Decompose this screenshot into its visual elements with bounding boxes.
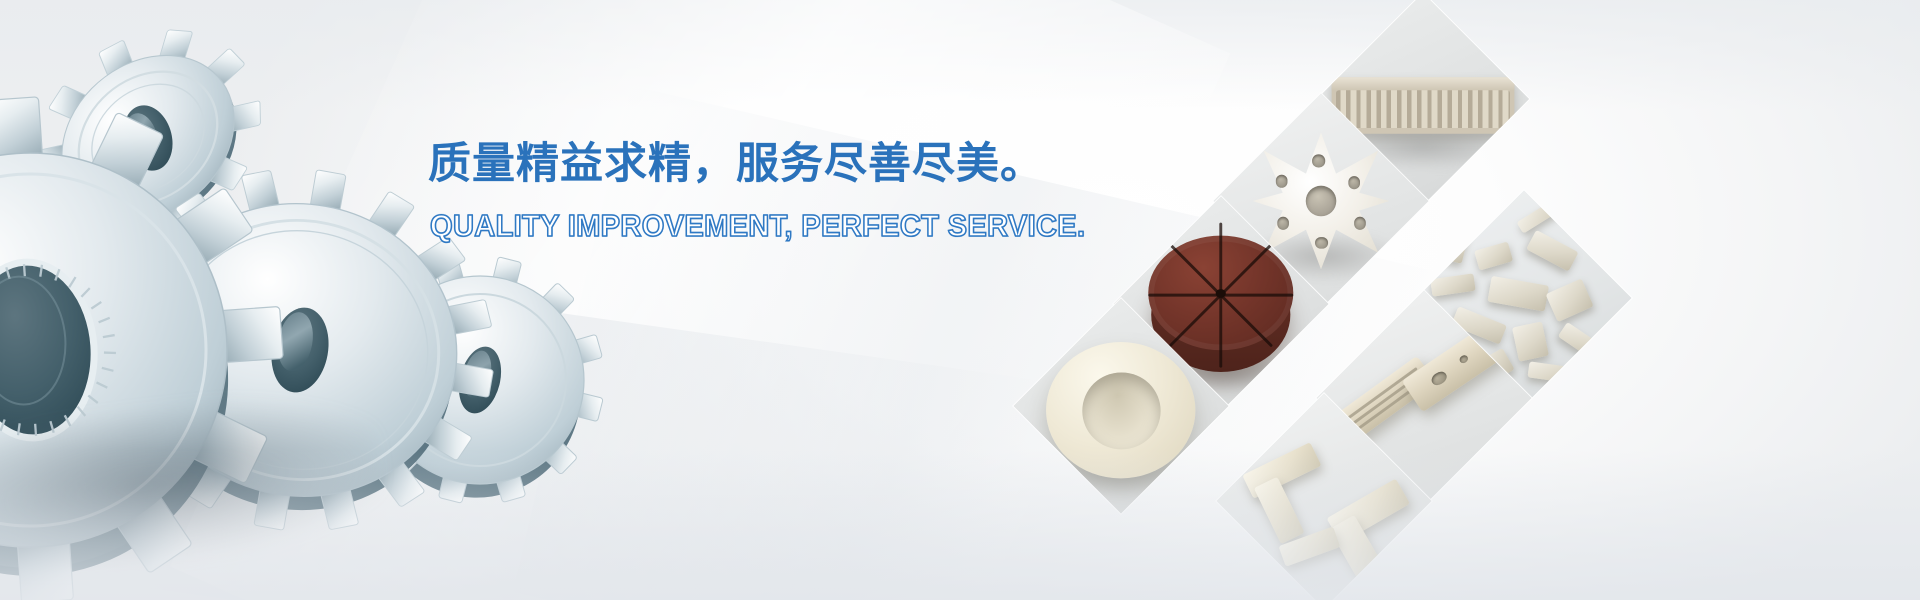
- vent-grille-part: [1332, 77, 1515, 134]
- headline-chinese: 质量精益求精，服务尽善尽美。: [428, 138, 1048, 190]
- headline-english: QUALITY IMPROVEMENT, PERFECT SERVICE.: [430, 209, 1011, 243]
- hero-banner: 质量精益求精，服务尽善尽美。 QUALITY IMPROVEMENT, PERF…: [0, 0, 1920, 600]
- banner-copy: 质量精益求精，服务尽善尽美。 QUALITY IMPROVEMENT, PERF…: [428, 138, 1048, 244]
- bottom-gradient-overlay: [0, 450, 1920, 600]
